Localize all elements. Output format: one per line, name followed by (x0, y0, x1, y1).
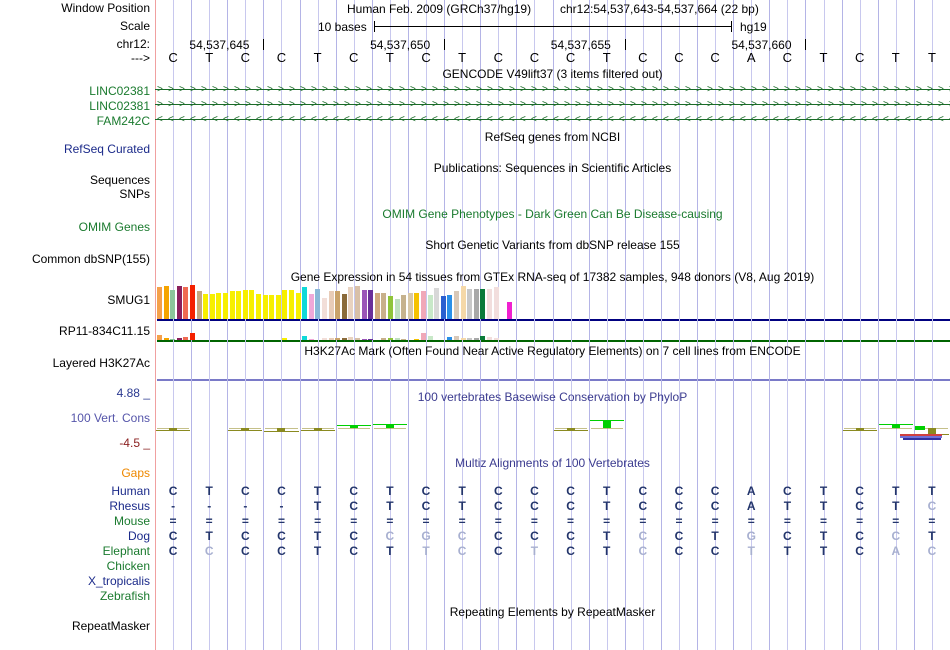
gene-strand-arrow-icon: > (256, 84, 262, 95)
alignment-base: T (805, 530, 841, 543)
alignment-base: C (408, 500, 444, 513)
gene-strand-arrow-icon: > (916, 84, 922, 95)
alignment-base: T (300, 545, 336, 558)
gtex-tissue-bar[interactable] (421, 333, 426, 340)
conservation-cap (337, 425, 371, 426)
alignment-base: = (805, 515, 841, 528)
gene-strand-arrow-icon: < (366, 114, 372, 125)
alignment-base: C (516, 530, 552, 543)
gene-strand-arrow-icon: > (157, 84, 163, 95)
ruler-tick-mark (263, 39, 264, 50)
alignment-base: = (914, 515, 950, 528)
gene-strand-arrow-icon: > (696, 84, 702, 95)
alignment-base: C (661, 500, 697, 513)
gene-strand-arrow-icon: > (663, 99, 669, 110)
gene-strand-arrow-icon: < (454, 114, 460, 125)
gene-strand-arrow-icon: > (278, 84, 284, 95)
gene-strand-arrow-icon: < (586, 114, 592, 125)
gtex-expression-chart-smug1[interactable] (157, 283, 532, 319)
gtex-tissue-bar[interactable] (362, 339, 367, 340)
gene-strand-arrow-icon: > (245, 99, 251, 110)
gene-strand-arrow-icon: > (531, 99, 537, 110)
gtex-tissue-bar[interactable] (441, 296, 446, 319)
gene-strand-arrow-icon: > (707, 84, 713, 95)
alignment-base: T (191, 530, 227, 543)
gtex-tissue-bar[interactable] (414, 339, 419, 340)
gene-strand-arrow-icon: > (564, 99, 570, 110)
gtex-tissue-bar[interactable] (329, 291, 334, 319)
gene-strand-arrow-icon: > (234, 84, 240, 95)
alignment-base: C (842, 500, 878, 513)
gtex-tissue-bar[interactable] (269, 295, 274, 319)
gene-strand-arrow-icon: < (894, 114, 900, 125)
gtex-tissue-bar[interactable] (447, 295, 452, 319)
gene-strand-arrow-icon: > (883, 99, 889, 110)
conservation-cap (590, 420, 624, 421)
gtex-tissue-bar[interactable] (315, 289, 320, 319)
gtex-tissue-bar[interactable] (421, 291, 426, 319)
coordinate-ruler: 54,537,64554,537,65054,537,65554,537,660 (155, 38, 950, 53)
gtex-tissue-bar[interactable] (388, 338, 393, 340)
gtex-tissue-bar[interactable] (322, 338, 327, 340)
gtex-tissue-bar[interactable] (322, 298, 327, 319)
alignment-base: = (227, 515, 263, 528)
gene-strand-arrow-icon: > (553, 99, 559, 110)
gene-strand-arrow-icon: > (531, 84, 537, 95)
gene-strand-arrow-icon: > (795, 99, 801, 110)
alignment-base: C (914, 500, 950, 513)
gene-strand-arrow-icon: > (300, 99, 306, 110)
conservation-cap (156, 430, 190, 431)
gtex-tissue-bar[interactable] (302, 336, 307, 340)
gene-strand-arrow-icon: > (674, 84, 680, 95)
gene-strand-arrow-icon: > (168, 84, 174, 95)
gene-strand-arrow-icon: > (267, 84, 273, 95)
gene-strand-arrow-icon: > (212, 99, 218, 110)
gene-strand-arrow-icon: > (630, 84, 636, 95)
gtex-tissue-bar[interactable] (157, 335, 162, 340)
gtex-tissue-bar[interactable] (480, 336, 485, 340)
gtex-tissue-bar[interactable] (428, 295, 433, 319)
gene-strand-arrow-icon: > (421, 84, 427, 95)
gtex-tissue-bar[interactable] (282, 338, 287, 340)
gtex-tissue-bar[interactable] (348, 337, 353, 340)
conservation-baseline-wisp (410, 428, 442, 429)
gtex-tissue-bar[interactable] (309, 294, 314, 319)
gene-strand-arrow-icon: > (696, 99, 702, 110)
gtex-baseline-2 (157, 340, 950, 342)
gtex-tissue-bar[interactable] (183, 287, 188, 319)
gtex-tissue-bar[interactable] (401, 295, 406, 319)
conservation-baseline-wisp (735, 428, 767, 429)
conservation-plot[interactable] (155, 400, 950, 450)
alignment-row-elephant: CCCCTCTTCCTCTCCCTTTCAC (155, 545, 950, 558)
gtex-tissue-bar[interactable] (164, 338, 169, 340)
gtex-tissue-bar[interactable] (461, 338, 466, 340)
gtex-tissue-bar[interactable] (177, 286, 182, 319)
alignment-base: T (589, 545, 625, 558)
gene-strand-arrow-icon: > (762, 84, 768, 95)
gene-strand-arrow-icon: > (465, 99, 471, 110)
gtex-tissue-bar[interactable] (375, 293, 380, 319)
alignment-base: T (372, 500, 408, 513)
gene-strand-arrow-icon: < (190, 114, 196, 125)
gene-strand-arrow-icon: > (564, 84, 570, 95)
gene-strand-arrow-icon: < (641, 114, 647, 125)
alignment-base: T (769, 545, 805, 558)
gene-strand-arrow-icon: > (289, 84, 295, 95)
gene-track-row-3[interactable]: <<<<<<<<<<<<<<<<<<<<<<<<<<<<<<<<<<<<<<<<… (155, 114, 950, 125)
gene-strand-arrow-icon: > (234, 99, 240, 110)
gene-strand-arrow-icon: > (443, 99, 449, 110)
conservation-cap (373, 424, 407, 425)
gtex-tissue-bar[interactable] (414, 293, 419, 319)
alignment-base: C (516, 485, 552, 498)
gtex-tissue-bar[interactable] (461, 286, 466, 319)
gene-strand-arrow-icon: > (498, 99, 504, 110)
alignment-base: T (300, 485, 336, 498)
alignment-base: C (553, 485, 589, 498)
species-label-x-tropicalis[interactable]: X_tropicalis (0, 575, 150, 588)
gtex-tissue-bar[interactable] (494, 287, 499, 319)
gene-track-row-2[interactable]: >>>>>>>>>>>>>>>>>>>>>>>>>>>>>>>>>>>>>>>>… (155, 99, 950, 110)
snps-label[interactable]: SNPs (0, 188, 150, 201)
gtex-tissue-bar[interactable] (249, 290, 254, 319)
species-label-elephant[interactable]: Elephant (0, 545, 150, 558)
alignment-base: - (191, 500, 227, 513)
alignment-base: C (263, 530, 299, 543)
gene-strand-arrow-icon: < (696, 114, 702, 125)
gtex-tissue-bar[interactable] (223, 293, 228, 319)
alignment-row-rhesus: ----TCTCTCCCTCCCATTCTC (155, 500, 950, 513)
gene-strand-arrow-icon: > (872, 99, 878, 110)
gtex-tissue-bar[interactable] (487, 289, 492, 319)
gene-strand-arrow-icon: < (707, 114, 713, 125)
species-label-rhesus[interactable]: Rhesus (0, 500, 150, 513)
gene-strand-arrow-icon: > (795, 84, 801, 95)
gene-strand-arrow-icon: > (223, 84, 229, 95)
gtex-tissue-bar[interactable] (256, 294, 261, 319)
gtex-tissue-bar[interactable] (447, 337, 452, 340)
gene-strand-arrow-icon: < (300, 114, 306, 125)
alignment-base: = (697, 515, 733, 528)
gtex-tissue-bar[interactable] (507, 302, 512, 319)
gtex-tissue-bar[interactable] (388, 296, 393, 319)
h3k27ac-track-title: H3K27Ac Mark (Often Found Near Active Re… (155, 344, 950, 358)
gtex-tissue-bar[interactable] (157, 287, 162, 319)
gene-strand-arrow-icon: > (322, 84, 328, 95)
gene-strand-arrow-icon: > (850, 99, 856, 110)
gtex-expression-chart-rp11[interactable] (157, 323, 532, 340)
conservation-cap (879, 424, 913, 425)
gtex-tissue-bar[interactable] (203, 294, 208, 319)
gene-strand-arrow-icon: > (509, 84, 515, 95)
gene-strand-arrow-icon: < (355, 114, 361, 125)
gtex-tissue-bar[interactable] (164, 286, 169, 319)
gtex-tissue-bar[interactable] (276, 295, 281, 319)
gtex-tissue-bar[interactable] (474, 289, 479, 319)
vert-cons-label[interactable]: 100 Vert. Cons (0, 412, 150, 425)
conservation-baseline-wisp (338, 428, 370, 429)
rp11-label[interactable]: RP11-834C11.15 (0, 325, 150, 338)
alignment-base: T (444, 500, 480, 513)
gtex-tissue-bar[interactable] (500, 338, 505, 340)
gene-strand-arrow-icon: > (377, 99, 383, 110)
alignment-base: C (480, 485, 516, 498)
alignment-base: C (516, 500, 552, 513)
gtex-tissue-bar[interactable] (289, 290, 294, 319)
gtex-tissue-bar[interactable] (177, 338, 182, 340)
gtex-tissue-bar[interactable] (236, 291, 241, 319)
gtex-tissue-bar[interactable] (329, 338, 334, 340)
gene-strand-arrow-icon: > (575, 99, 581, 110)
gene-strand-arrow-icon: > (366, 84, 372, 95)
conservation-max-label: 4.88 _ (0, 387, 150, 400)
alignment-base: T (408, 545, 444, 558)
repeatmasker-label[interactable]: RepeatMasker (0, 620, 150, 633)
gene-strand-arrow-icon: > (685, 99, 691, 110)
gtex-tissue-bar[interactable] (428, 336, 433, 340)
alignment-base: = (553, 515, 589, 528)
gtex-tissue-bar[interactable] (170, 339, 175, 340)
gtex-tissue-bar[interactable] (362, 290, 367, 319)
alignment-base: C (444, 530, 480, 543)
gene-strand-arrow-icon: > (399, 84, 405, 95)
gene-strand-arrow-icon: > (355, 84, 361, 95)
gtex-tissue-bar[interactable] (302, 287, 307, 319)
gtex-tissue-bar[interactable] (216, 293, 221, 319)
gene-label-linc02381-2[interactable]: LINC02381 (0, 100, 150, 113)
gtex-tissue-bar[interactable] (263, 295, 268, 319)
alignment-base: C (842, 485, 878, 498)
conservation-baseline-wisp (446, 428, 478, 429)
gene-strand-arrow-icon: < (278, 114, 284, 125)
alignment-base: C (227, 545, 263, 558)
gene-strand-arrow-icon: > (190, 84, 196, 95)
alignment-base: = (625, 515, 661, 528)
alignment-base: G (733, 530, 769, 543)
gene-strand-arrow-icon: < (751, 114, 757, 125)
conservation-baseline-wisp (518, 428, 550, 429)
alignment-base: - (227, 500, 263, 513)
species-label-dog[interactable]: Dog (0, 530, 150, 543)
gtex-tissue-bar[interactable] (487, 337, 492, 340)
gtex-tissue-bar[interactable] (494, 338, 499, 340)
gene-strand-arrow-icon: > (828, 99, 834, 110)
gtex-tissue-bar[interactable] (467, 338, 472, 340)
gene-strand-arrow-icon: > (553, 84, 559, 95)
gene-strand-arrow-icon: < (520, 114, 526, 125)
gene-strand-arrow-icon: > (619, 84, 625, 95)
alignment-base: C (661, 545, 697, 558)
gene-strand-arrow-icon: > (256, 99, 262, 110)
gene-strand-arrow-icon: < (685, 114, 691, 125)
gene-strand-arrow-icon: > (542, 99, 548, 110)
gtex-tissue-bar[interactable] (355, 286, 360, 319)
gene-strand-arrow-icon: < (531, 114, 537, 125)
gene-strand-arrow-icon: > (839, 84, 845, 95)
sequences-label[interactable]: Sequences (0, 174, 150, 187)
gtex-tissue-bar[interactable] (342, 294, 347, 319)
gtex-tissue-bar[interactable] (335, 338, 340, 340)
common-dbsnp-label[interactable]: Common dbSNP(155) (0, 253, 150, 266)
gene-strand-arrow-icon: > (443, 84, 449, 95)
gene-strand-arrow-icon: < (168, 114, 174, 125)
gtex-tissue-bar[interactable] (381, 293, 386, 319)
gene-strand-arrow-icon: > (223, 99, 229, 110)
gene-strand-arrow-icon: > (190, 99, 196, 110)
gtex-tissue-bar[interactable] (408, 293, 413, 319)
gene-strand-arrow-icon: > (674, 99, 680, 110)
gene-strand-arrow-icon: < (630, 114, 636, 125)
conservation-baseline-wisp (591, 428, 623, 429)
conservation-baseline-wisp (699, 428, 731, 429)
gene-strand-arrow-icon: < (223, 114, 229, 125)
gtex-tissue-bar[interactable] (381, 338, 386, 340)
refseq-curated-label[interactable]: RefSeq Curated (0, 143, 150, 156)
gene-strand-arrow-icon: > (751, 84, 757, 95)
alignment-row-x-tropicalis (155, 575, 950, 588)
omim-genes-label[interactable]: OMIM Genes (0, 221, 150, 234)
gene-strand-arrow-icon: > (168, 99, 174, 110)
gene-strand-arrow-icon: > (410, 84, 416, 95)
gene-strand-arrow-icon: > (718, 84, 724, 95)
gtex-tissue-bar[interactable] (190, 285, 195, 319)
gene-strand-arrow-icon: > (366, 99, 372, 110)
gtex-tissue-bar[interactable] (355, 338, 360, 340)
gene-track-row-1[interactable]: >>>>>>>>>>>>>>>>>>>>>>>>>>>>>>>>>>>>>>>>… (155, 84, 950, 95)
alignment-base: C (155, 545, 191, 558)
gtex-tissue-bar[interactable] (500, 296, 505, 319)
alignment-base: = (372, 515, 408, 528)
alignment-base: T (300, 530, 336, 543)
gene-strand-arrow-icon: > (344, 84, 350, 95)
gene-strand-arrow-icon: < (421, 114, 427, 125)
gtex-tissue-bar[interactable] (395, 299, 400, 319)
gene-strand-arrow-icon: < (542, 114, 548, 125)
gene-strand-arrow-icon: < (344, 114, 350, 125)
omim-track-title: OMIM Gene Phenotypes - Dark Green Can Be… (155, 207, 950, 221)
gene-strand-arrow-icon: > (850, 84, 856, 95)
gtex-tissue-bar[interactable] (368, 290, 373, 319)
conservation-baseline-wisp (482, 428, 514, 429)
gtex-tissue-bar[interactable] (480, 289, 485, 319)
gene-strand-arrow-icon: < (597, 114, 603, 125)
alignment-base: T (878, 500, 914, 513)
gtex-tissue-bar[interactable] (401, 339, 406, 340)
gene-strand-arrow-icon: > (806, 84, 812, 95)
gene-strand-arrow-icon: > (685, 84, 691, 95)
alignment-base: C (336, 530, 372, 543)
ruler-tick-label: 54,537,650 (370, 38, 430, 52)
alignment-base: T (300, 500, 336, 513)
alignment-base: C (227, 485, 263, 498)
gene-strand-arrow-icon: < (465, 114, 471, 125)
gene-strand-arrow-icon: < (245, 114, 251, 125)
genome-browser: Window Position Scale chr12: ---> Human … (0, 0, 950, 650)
alignment-base: C (769, 485, 805, 498)
gene-label-linc02381-1[interactable]: LINC02381 (0, 85, 150, 98)
alignment-base: C (625, 530, 661, 543)
scale-text: 10 bases (318, 20, 367, 34)
gene-strand-arrow-icon: > (938, 99, 944, 110)
gtex-tissue-bar[interactable] (368, 339, 373, 340)
gtex-tissue-bar[interactable] (170, 290, 175, 319)
layered-h3k27ac-label[interactable]: Layered H3K27Ac (0, 357, 150, 370)
window-coordinates: chr12:54,537,643-54,537,664 (22 bp) (560, 2, 759, 16)
alignment-base: C (263, 485, 299, 498)
gene-strand-arrow-icon: > (267, 99, 273, 110)
gene-strand-arrow-icon: > (773, 84, 779, 95)
chrom-label: chr12: (0, 38, 150, 51)
smug1-label[interactable]: SMUG1 (0, 294, 150, 307)
gene-strand-arrow-icon: < (201, 114, 207, 125)
alignment-base: - (263, 500, 299, 513)
gene-strand-arrow-icon: < (817, 114, 823, 125)
gene-strand-arrow-icon: > (608, 99, 614, 110)
species-label-human[interactable]: Human (0, 485, 150, 498)
gtex-tissue-bar[interactable] (243, 290, 248, 319)
gene-strand-arrow-icon: > (916, 99, 922, 110)
alignment-base: = (300, 515, 336, 528)
gtex-tissue-bar[interactable] (210, 294, 215, 319)
conservation-baseline-wisp (627, 428, 659, 429)
gene-strand-arrow-icon: > (652, 99, 658, 110)
gene-strand-arrow-icon: > (762, 99, 768, 110)
gene-label-fam242c[interactable]: FAM242C (0, 115, 150, 128)
conservation-baseline-wisp (880, 428, 912, 429)
gtex-tissue-bar[interactable] (230, 291, 235, 319)
ruler-tick-mark (625, 39, 626, 50)
gene-strand-arrow-icon: < (861, 114, 867, 125)
alignment-base: = (769, 515, 805, 528)
gaps-label[interactable]: Gaps (0, 467, 150, 480)
gtex-tissue-bar[interactable] (296, 293, 301, 319)
conservation-cap (554, 430, 588, 431)
gtex-tissue-bar[interactable] (454, 336, 459, 340)
gtex-tissue-bar[interactable] (474, 338, 479, 340)
gtex-tissue-bar[interactable] (467, 289, 472, 319)
gtex-tissue-bar[interactable] (183, 337, 188, 340)
gene-strand-arrow-icon: > (509, 99, 515, 110)
alignment-base: T (805, 485, 841, 498)
gtex-tissue-bar[interactable] (342, 338, 347, 340)
gtex-tissue-bar[interactable] (309, 339, 314, 340)
gtex-tissue-bar[interactable] (454, 291, 459, 319)
gtex-tissue-bar[interactable] (190, 333, 195, 340)
gtex-tissue-bar[interactable] (282, 290, 287, 319)
alignment-row-human: CTCCTCTCTCCCTCCCACTCTT (155, 485, 950, 498)
gtex-tissue-bar[interactable] (348, 287, 353, 319)
species-label-mouse[interactable]: Mouse (0, 515, 150, 528)
species-label-zebrafish[interactable]: Zebrafish (0, 590, 150, 603)
gene-strand-arrow-icon: < (883, 114, 889, 125)
gene-strand-arrow-icon: < (212, 114, 218, 125)
gene-strand-arrow-icon: > (652, 84, 658, 95)
conservation-bar[interactable] (603, 420, 611, 428)
alignment-base: G (408, 530, 444, 543)
gtex-tissue-bar[interactable] (434, 288, 439, 319)
gtex-tissue-bar[interactable] (197, 291, 202, 319)
gene-strand-arrow-icon: > (586, 84, 592, 95)
gtex-tissue-bar[interactable] (395, 338, 400, 340)
gtex-tissue-bar[interactable] (335, 291, 340, 319)
gene-strand-arrow-icon: > (421, 99, 427, 110)
gene-strand-arrow-icon: > (542, 84, 548, 95)
species-label-chicken[interactable]: Chicken (0, 560, 150, 573)
alignment-base: C (480, 500, 516, 513)
gtex-track-title: Gene Expression in 54 tissues from GTEx … (155, 270, 950, 284)
